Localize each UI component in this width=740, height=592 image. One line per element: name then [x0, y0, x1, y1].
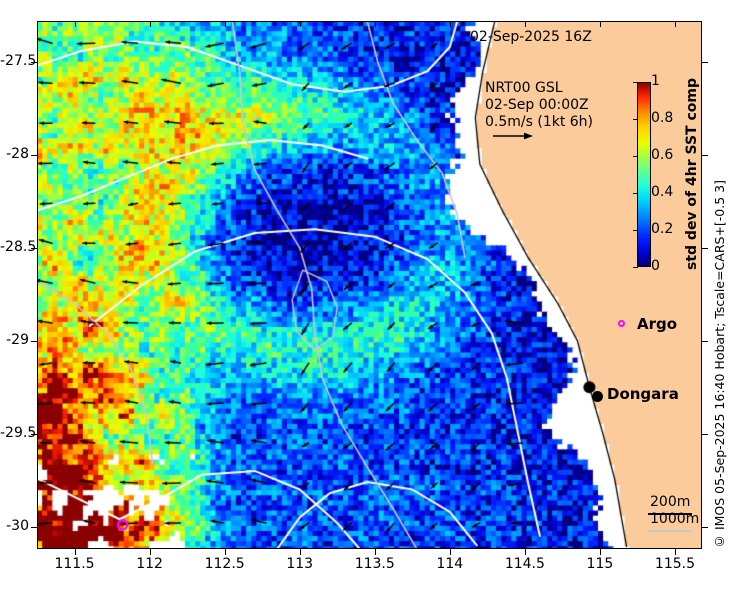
colorbar-tick-label-0: 1 [651, 73, 660, 89]
y-tick-label-5: -30 [0, 518, 29, 534]
model-annotation: NRT00 GSL 02-Sep 00:00Z 0.5m/s (1kt 6h) [485, 80, 593, 131]
annotation-line-1: NRT00 GSL [485, 80, 593, 97]
x-tick-label-3: 113 [270, 556, 330, 572]
depth-contour-legend: 200m 1000m [650, 494, 699, 528]
x-tick [375, 549, 376, 555]
x-tick-label-1: 112 [120, 556, 180, 572]
figure-root: 02-Sep-2025 16Z NRT00 GSL 02-Sep 00:00Z … [0, 0, 740, 592]
x-tick-top [300, 21, 301, 27]
y-tick-right [702, 434, 708, 435]
x-tick [525, 549, 526, 555]
x-tick-top [150, 21, 151, 27]
x-tick-top [525, 21, 526, 27]
x-tick [225, 549, 226, 555]
x-tick-label-6: 114.5 [495, 556, 555, 572]
x-tick [675, 549, 676, 555]
x-tick-top [375, 21, 376, 27]
x-tick-top [75, 21, 76, 27]
colorbar-tick-label-3: 0.4 [651, 184, 673, 200]
colorbar-tick-label-2: 0.6 [651, 147, 673, 163]
y-tick-label-4: -29.5 [0, 425, 29, 441]
map-overlay-canvas [37, 21, 702, 549]
x-tick-top [600, 21, 601, 27]
y-tick-right [702, 527, 708, 528]
colorbar-tick [633, 156, 638, 157]
colorbar-tick [633, 119, 638, 120]
sst-map-panel[interactable] [37, 21, 702, 549]
annotation-line-2: 02-Sep 00:00Z [485, 97, 593, 114]
colorbar-tick [633, 267, 638, 268]
x-tick [600, 549, 601, 555]
y-tick-label-3: -29 [0, 332, 29, 348]
annotation-line-3: 0.5m/s (1kt 6h) [485, 114, 593, 131]
colorbar-gradient [637, 82, 651, 267]
x-tick-label-7: 115 [570, 556, 630, 572]
y-tick [31, 527, 37, 528]
x-tick-label-8: 115.5 [645, 556, 705, 572]
x-tick-label-5: 114 [420, 556, 480, 572]
x-tick [450, 549, 451, 555]
x-tick-label-4: 113.5 [345, 556, 405, 572]
colorbar-tick [633, 230, 638, 231]
y-tick-label-1: -28 [0, 146, 29, 162]
y-tick-label-2: -28.5 [0, 239, 29, 255]
y-tick-right [702, 155, 708, 156]
y-tick [31, 341, 37, 342]
colorbar-tick-label-1: 0.8 [651, 110, 673, 126]
colorbar-tick-label-5: 0 [651, 258, 660, 274]
y-tick-right [702, 341, 708, 342]
colorbar-title: std dev of 4hr SST comp [684, 78, 700, 270]
dongara-marker-icon [592, 391, 603, 402]
depth-200-label: 200m [650, 494, 699, 511]
dongara-legend-label: Dongara [607, 385, 679, 403]
x-tick-top [225, 21, 226, 27]
y-tick-right [702, 248, 708, 249]
x-tick [150, 549, 151, 555]
colorbar-tick [633, 82, 638, 83]
x-tick-label-0: 111.5 [45, 556, 105, 572]
depth-1000-line-sample [648, 530, 692, 532]
x-tick-top [675, 21, 676, 27]
x-tick-label-2: 112.5 [195, 556, 255, 572]
reference-vector-arrow-icon [493, 130, 533, 142]
x-tick-top [450, 21, 451, 27]
depth-200-line-sample [648, 513, 692, 515]
colorbar-tick [633, 193, 638, 194]
colorbar-tick-label-4: 0.2 [651, 221, 673, 237]
map-timestamp: 02-Sep-2025 16Z [470, 29, 592, 45]
y-tick [31, 155, 37, 156]
y-tick-label-0: -27.5 [0, 53, 29, 69]
copyright-text: © IMOS 05-Sep-2025 16:40 Hobart; Tscale=… [712, 180, 727, 549]
argo-marker-icon [618, 320, 625, 327]
x-tick [300, 549, 301, 555]
argo-legend-label: Argo [637, 315, 677, 333]
y-tick-right [702, 62, 708, 63]
x-tick [75, 549, 76, 555]
